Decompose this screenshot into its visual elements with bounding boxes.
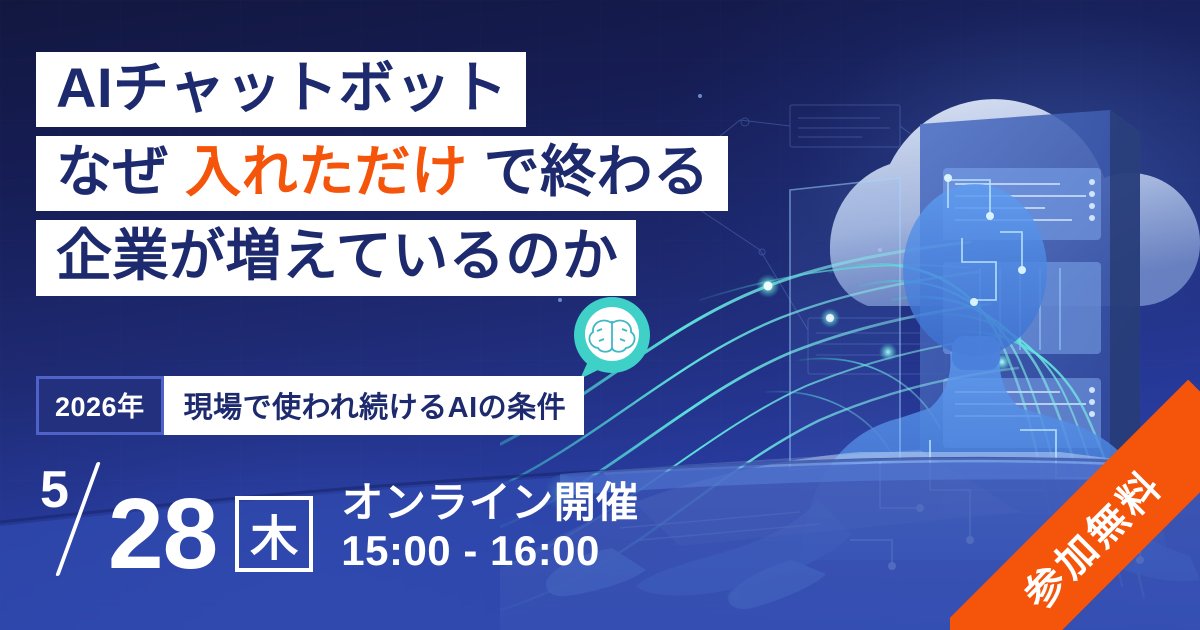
subtitle-text: 現場で使われ続けるAIの条件 xyxy=(164,376,585,435)
brain-chat-bubble-icon xyxy=(574,297,650,379)
date-and-event-block: 5 28 木 オンライン開催 15:00 - 16:00 xyxy=(40,462,639,580)
event-month: 5 xyxy=(40,464,69,516)
headline-line-2-suffix: で終わる xyxy=(468,140,710,203)
headline-line-2-accent: 入れただけ xyxy=(185,140,468,203)
event-info: オンライン開催 15:00 - 16:00 xyxy=(341,479,639,576)
event-time: 15:00 - 16:00 xyxy=(341,527,639,576)
ribbon-label: 参加無料 xyxy=(950,380,1200,630)
headline-line-2: なぜ 入れただけ で終わる xyxy=(36,136,728,211)
event-date: 5 28 xyxy=(40,462,217,580)
headline: AIチャットボット なぜ 入れただけ で終わる 企業が増えているのか xyxy=(36,52,728,305)
headline-line-3: 企業が増えているのか xyxy=(36,220,636,295)
free-admission-ribbon: 参加無料 xyxy=(950,380,1200,630)
event-day-of-week: 木 xyxy=(235,496,313,572)
headline-line-3-text: 企業が増えているのか xyxy=(56,224,618,287)
subtitle-bar: 2026年 現場で使われ続けるAIの条件 xyxy=(36,376,584,435)
headline-line-1: AIチャットボット xyxy=(36,52,526,127)
event-day: 28 xyxy=(108,488,217,580)
banner-stage: AIチャットボット なぜ 入れただけ で終わる 企業が増えているのか 2026年… xyxy=(0,0,1200,630)
hologram-panel xyxy=(790,178,900,470)
headline-line-1-text: AIチャットボット xyxy=(56,56,508,119)
event-format: オンライン開催 xyxy=(341,479,639,528)
headline-line-2-prefix: なぜ xyxy=(56,140,185,203)
subtitle-year-badge: 2026年 xyxy=(36,376,164,435)
